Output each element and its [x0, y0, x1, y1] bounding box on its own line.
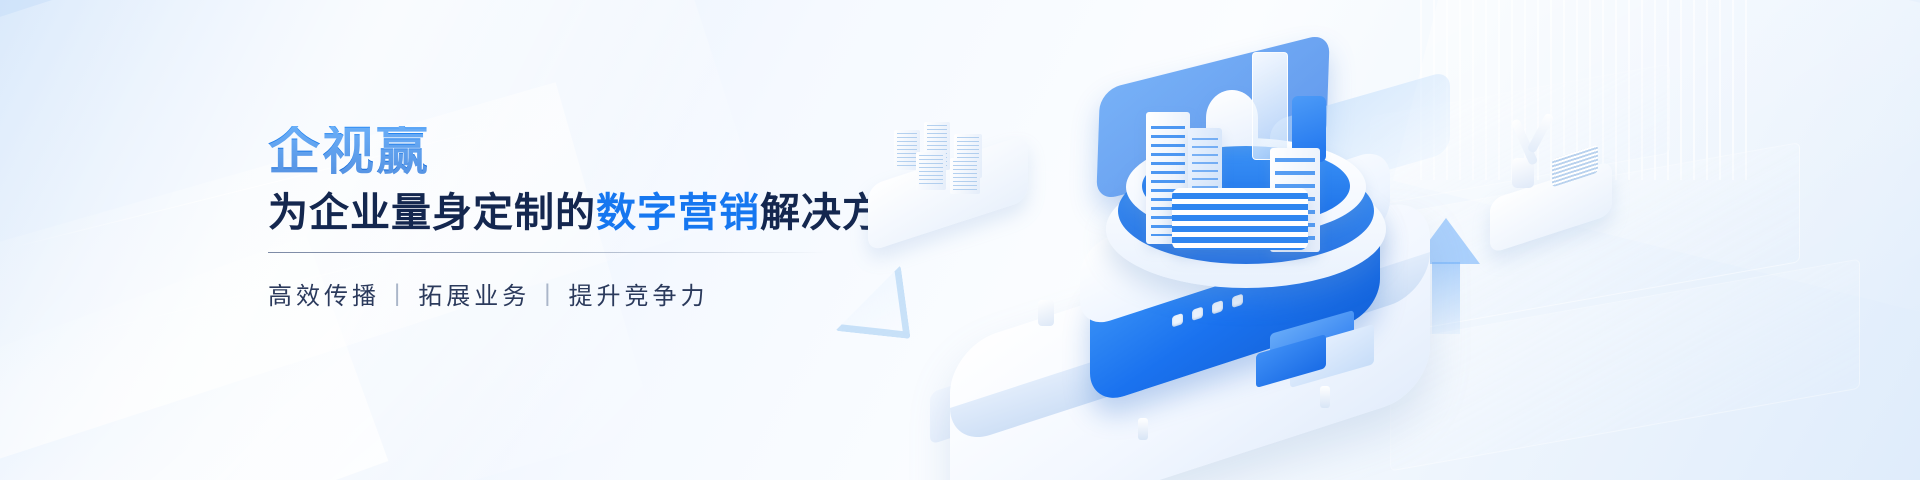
glass-tower-icon — [1252, 52, 1288, 160]
marketing-banner: 企视赢 为企业量身定制的数字营销解决方案 高效传播 | 拓展业务 | 提升竞争力 — [0, 0, 1920, 480]
robot-arm-forearm — [1527, 112, 1555, 153]
tagline-separator-2: | — [544, 280, 554, 308]
tray-stub — [1038, 300, 1054, 326]
mini-building-icon — [950, 158, 980, 194]
hero-illustration — [1020, 0, 1920, 480]
tagline-item-3: 提升竞争力 — [568, 276, 708, 311]
subtitle-part-1: 为企业量身定制的 — [268, 191, 596, 235]
tagline-separator-1: | — [394, 280, 404, 308]
robot-arm-pad — [1490, 160, 1612, 254]
platform-foot — [1320, 386, 1330, 408]
banner-subtitle: 为企业量身定制的数字营销解决方案 — [268, 191, 888, 235]
blue-arrow-stem — [1432, 262, 1460, 334]
stacked-layers-icon — [1172, 188, 1308, 250]
banner-tagline: 高效传播 | 拓展业务 | 提升竞争力 — [268, 276, 888, 311]
platform-foot — [1138, 418, 1148, 440]
text-divider — [268, 252, 828, 253]
banner-text-block: 企视赢 为企业量身定制的数字营销解决方案 高效传播 | 拓展业务 | 提升竞争力 — [268, 126, 888, 311]
mini-building-icon — [916, 152, 946, 190]
tagline-item-2: 拓展业务 — [418, 276, 530, 311]
banner-title: 企视赢 — [268, 126, 888, 178]
subtitle-highlight: 数字营销 — [596, 191, 760, 235]
tagline-item-1: 高效传播 — [268, 276, 380, 311]
